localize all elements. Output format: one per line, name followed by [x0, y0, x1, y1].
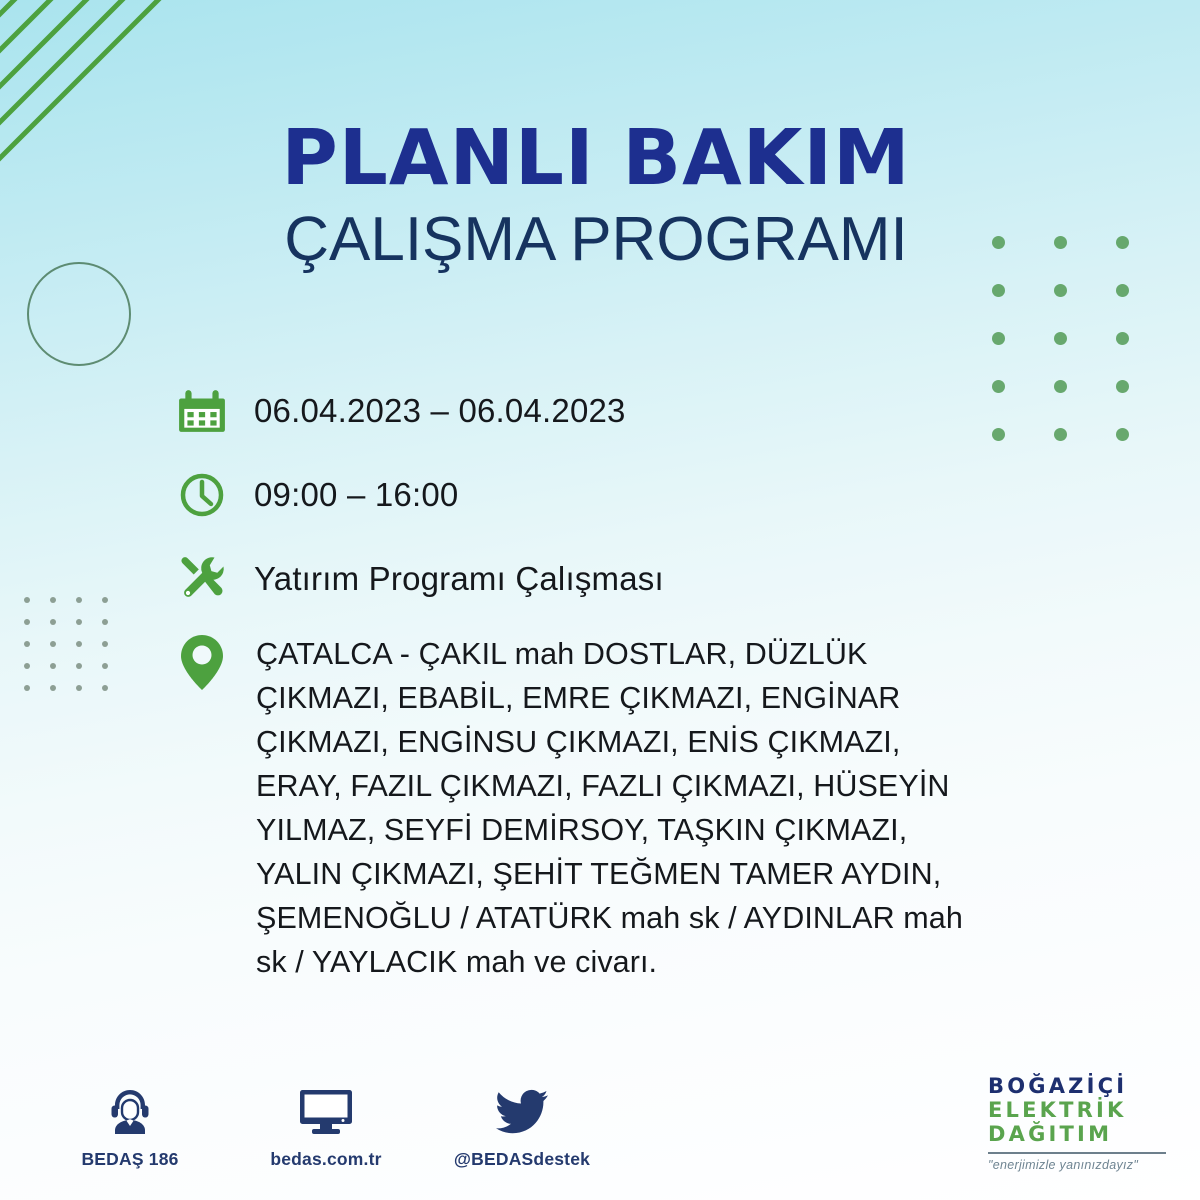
poster-canvas: PLANLI BAKIM ÇALIŞMA PROGRAMI 06.04.2023… — [0, 0, 1200, 1200]
headset-support-icon — [104, 1084, 156, 1136]
info-row-location: ÇATALCA - ÇAKIL mah DOSTLAR, DÜZLÜK ÇIKM… — [172, 632, 1020, 984]
tools-icon — [172, 548, 232, 610]
contact-twitter[interactable]: @BEDASdestek — [452, 1084, 592, 1170]
logo-tagline: "enerjimizle yanınızdayız" — [988, 1158, 1178, 1172]
dot-grid-left-decoration — [24, 597, 128, 707]
contact-phone[interactable]: BEDAŞ 186 — [60, 1084, 200, 1170]
info-list: 06.04.2023 – 06.04.2023 09:00 – 16:00 — [172, 380, 1020, 984]
date-range-text: 06.04.2023 – 06.04.2023 — [232, 380, 626, 442]
twitter-bird-icon — [494, 1084, 550, 1136]
monitor-icon — [298, 1084, 354, 1136]
logo-line-dagitim: DAĞITIM — [988, 1123, 1178, 1147]
info-row-time: 09:00 – 16:00 — [172, 464, 1020, 526]
location-text: ÇATALCA - ÇAKIL mah DOSTLAR, DÜZLÜK ÇIKM… — [232, 632, 992, 984]
work-type-text: Yatırım Programı Çalışması — [232, 548, 664, 610]
poster-header: PLANLI BAKIM ÇALIŞMA PROGRAMI — [0, 120, 1200, 272]
page-title: PLANLI BAKIM — [0, 120, 1192, 197]
contact-phone-label: BEDAŞ 186 — [81, 1149, 178, 1170]
page-subtitle: ÇALIŞMA PROGRAMI — [0, 207, 1192, 272]
logo-divider — [988, 1152, 1166, 1154]
logo-line-elektrik: ELEKTRİK — [988, 1099, 1178, 1123]
brand-logo: BOĞAZİÇİ ELEKTRİK DAĞITIM "enerjimizle y… — [988, 1075, 1178, 1172]
circle-outline-decoration — [27, 262, 131, 366]
footer-contacts: BEDAŞ 186 bedas.com.tr @BEDASdestek — [60, 1084, 592, 1170]
info-row-work-type: Yatırım Programı Çalışması — [172, 548, 1020, 610]
clock-icon — [172, 464, 232, 526]
map-pin-icon — [172, 632, 232, 688]
contact-twitter-label: @BEDASdestek — [454, 1149, 590, 1170]
calendar-icon — [172, 380, 232, 442]
info-row-date: 06.04.2023 – 06.04.2023 — [172, 380, 1020, 442]
logo-line-bogazici: BOĞAZİÇİ — [988, 1075, 1178, 1099]
time-range-text: 09:00 – 16:00 — [232, 464, 458, 526]
contact-website[interactable]: bedas.com.tr — [256, 1084, 396, 1170]
contact-website-label: bedas.com.tr — [270, 1149, 381, 1170]
